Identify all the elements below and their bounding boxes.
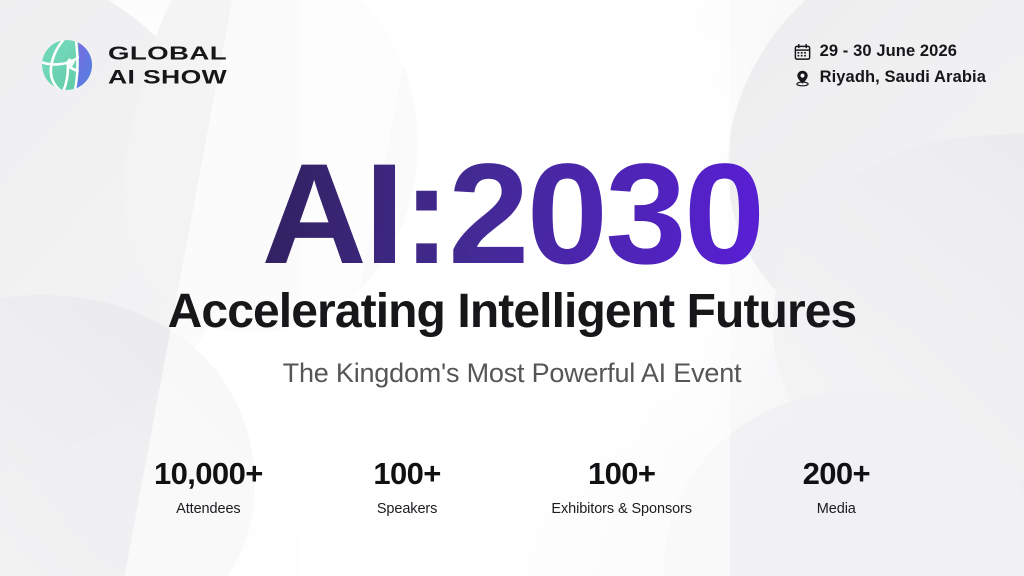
stat-block: 10,000+ Attendees — [154, 458, 263, 517]
stats-row: 10,000+ Attendees 100+ Speakers 100+ Exh… — [154, 458, 870, 517]
brand-line-ai-show: AI SHOW — [108, 65, 228, 89]
hero-headline: AI:2030 — [0, 148, 1024, 281]
stat-block: 100+ Exhibitors & Sponsors — [551, 458, 692, 517]
stat-block: 100+ Speakers — [373, 458, 440, 517]
event-meta: 29 - 30 June 2026 Riyadh, Saudi Arabia — [794, 42, 986, 87]
stat-value: 200+ — [803, 458, 870, 489]
brand-line-global: GLOBAL — [108, 42, 228, 65]
stat-label: Exhibitors & Sponsors — [551, 502, 692, 517]
hero-subtitle: The Kingdom's Most Powerful AI Event — [0, 359, 1024, 389]
calendar-icon — [794, 43, 811, 61]
promo-banner: GLOBAL AI SHOW — [0, 0, 1024, 576]
header: GLOBAL AI SHOW — [0, 0, 1024, 128]
hero-section: AI:2030 Accelerating Intelligent Futures… — [0, 148, 1024, 389]
stat-value: 100+ — [588, 458, 655, 489]
event-date: 29 - 30 June 2026 — [820, 42, 957, 61]
brand-wordmark: GLOBAL AI SHOW — [108, 42, 228, 89]
brand-logo[interactable]: GLOBAL AI SHOW — [38, 36, 228, 94]
event-location-row: Riyadh, Saudi Arabia — [794, 68, 986, 87]
svg-text:AI SHOW: AI SHOW — [108, 67, 227, 88]
stat-block: 200+ Media — [803, 458, 870, 517]
svg-text:GLOBAL: GLOBAL — [108, 43, 227, 63]
globe-petals-icon — [38, 36, 96, 94]
hero-tagline: Accelerating Intelligent Futures — [0, 287, 1024, 337]
location-pin-icon — [794, 69, 811, 87]
brand-line-ai-show-text: AI SHOW — [108, 65, 228, 89]
stat-value: 10,000+ — [154, 458, 263, 489]
event-date-row: 29 - 30 June 2026 — [794, 42, 957, 61]
stat-label: Media — [817, 502, 856, 517]
stat-label: Attendees — [176, 502, 240, 517]
stat-value: 100+ — [373, 458, 440, 489]
event-location: Riyadh, Saudi Arabia — [820, 68, 986, 87]
brand-line-global-text: GLOBAL — [108, 42, 228, 65]
stat-label: Speakers — [377, 502, 437, 517]
